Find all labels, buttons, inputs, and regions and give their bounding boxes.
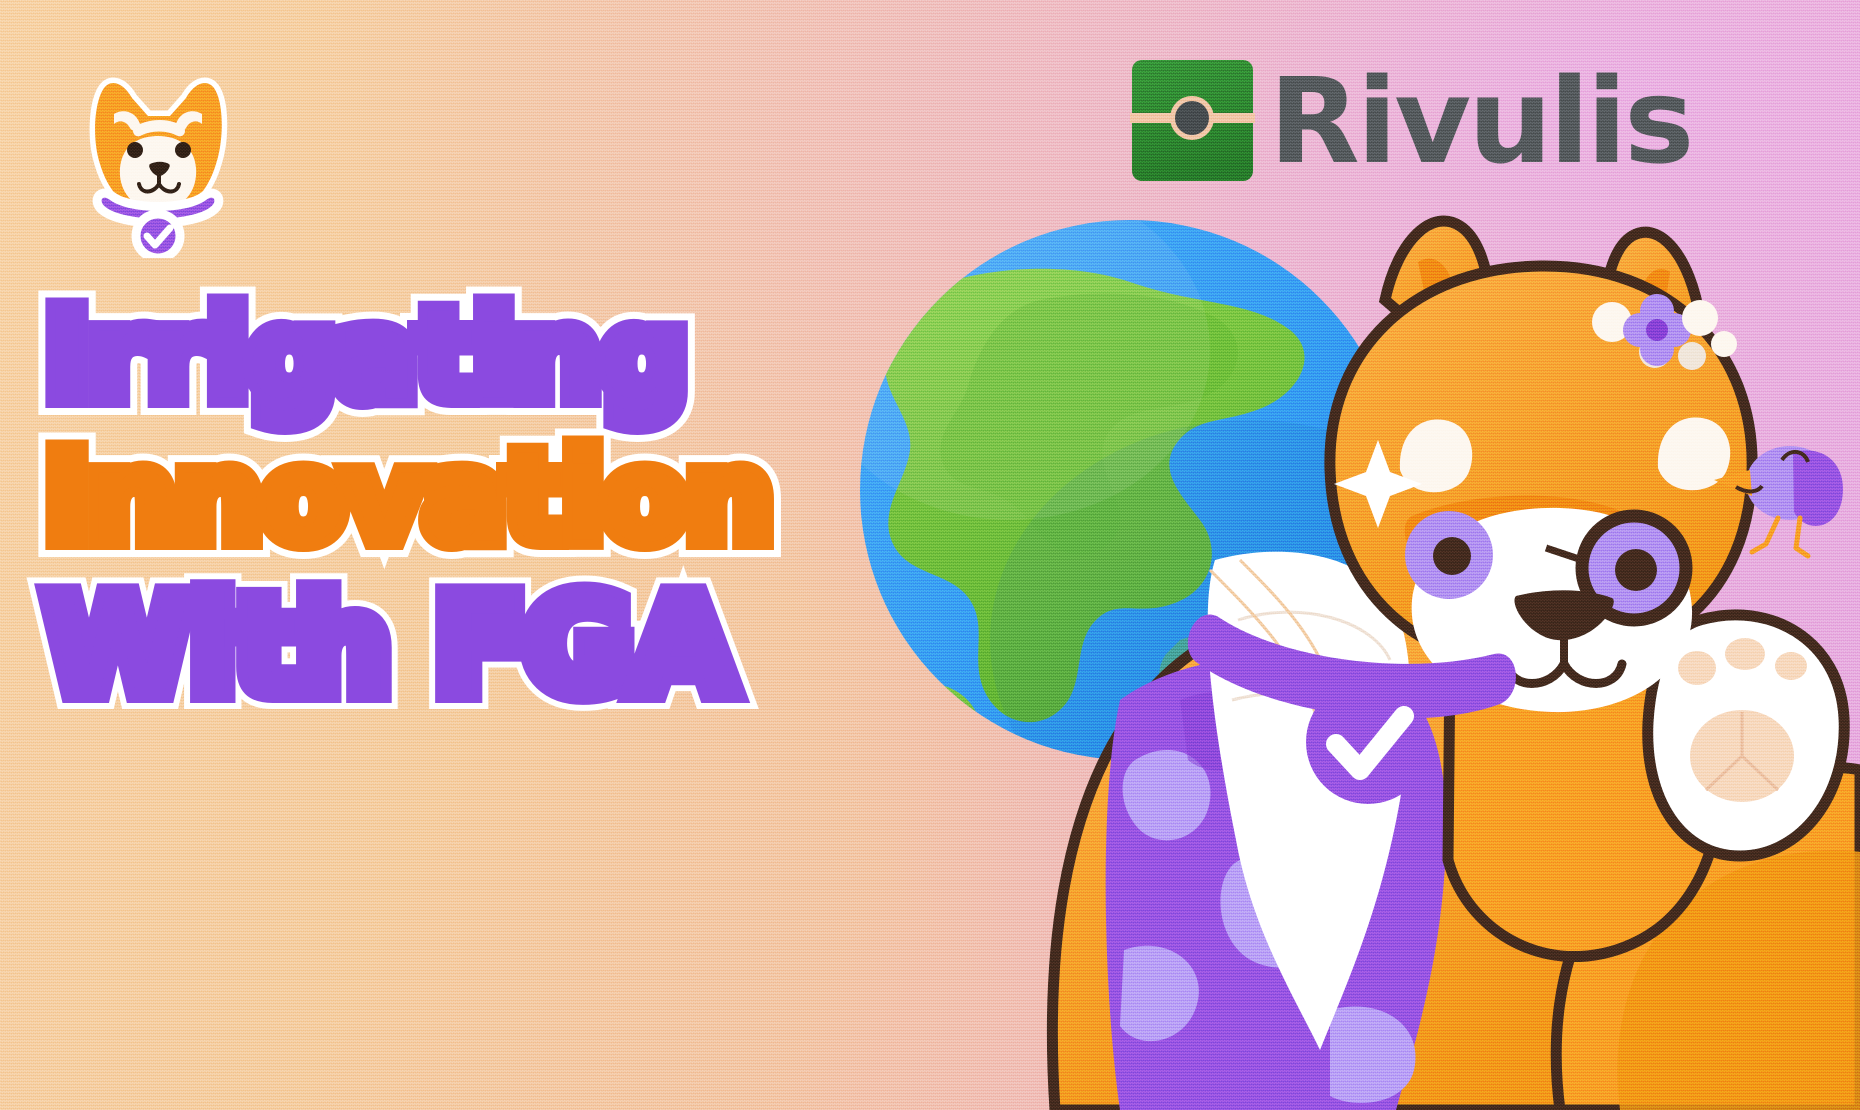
headline-line-1: Irrigating Irrigating Irrigating [44,288,944,424]
shiba-inu-head-logo[interactable] [78,58,238,258]
collar [1188,615,1516,804]
headline-block: Irrigating Irrigating Irrigating Innovat… [44,288,944,720]
flower-crown [1592,294,1737,370]
shiba-mascot-illustration [1052,221,1860,1110]
headline-line-2: Innovation Innovation Innovation [44,430,944,566]
rivulis-wordmark: Rivulis [1269,62,1691,180]
rivulis-dripper-mark [1130,58,1255,183]
sparkle-icon [1334,440,1422,528]
checkmark-icon [1336,716,1404,770]
eye-right-with-monocle [1546,516,1686,620]
rivulis-logo-lockup[interactable]: Rivulis [1130,58,1691,183]
paw-illustration [1648,615,1845,856]
poster-canvas: Rivulis Irrigating Irrigating Irrigating… [0,0,1860,1110]
bird-illustration [1714,446,1843,556]
headline-line-3: With FGA With FGA With FGA [44,573,944,720]
eye-left [1405,511,1493,599]
